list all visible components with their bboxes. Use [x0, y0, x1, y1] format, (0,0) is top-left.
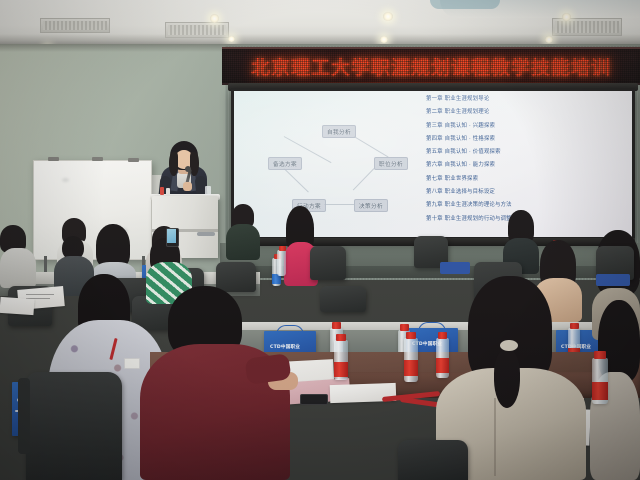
bottle-cap — [336, 334, 346, 341]
hair-tie — [500, 340, 518, 351]
microphone-head — [185, 166, 191, 172]
notebook — [0, 297, 35, 315]
podium-marker — [166, 188, 170, 195]
speaker-hand — [183, 182, 192, 191]
chair-foreground — [398, 440, 468, 480]
chapter-item: 第七章 职业世界探索 — [426, 177, 626, 182]
led-banner: 北京理工大学职涯规划课程教学技能培训 — [222, 47, 640, 85]
ceiling-spotlight — [562, 13, 571, 21]
attendee-torso — [226, 224, 260, 260]
ac-vent-left — [40, 18, 110, 33]
ac-vent-right — [552, 18, 622, 36]
ceiling-spotlight — [380, 36, 388, 43]
attendee-torso — [0, 248, 36, 288]
whiteboard-clip — [48, 157, 59, 161]
chapter-item: 第四章 自我认知 · 性格探索 — [426, 137, 626, 142]
bottle-cap — [279, 246, 286, 251]
bottle-label — [436, 358, 449, 373]
bottle-label — [334, 362, 348, 377]
chair-armrest — [18, 378, 30, 454]
chapter-item: 第三章 自我认知 · 兴趣探索 — [426, 124, 626, 129]
classroom-photo-scene: 北京理工大学职涯规划课程教学技能培训 自我分析 备选方案 职位分析 行动方案 决… — [0, 0, 640, 480]
chapter-item: 第二章 职业生涯规划理论 — [426, 110, 626, 115]
whiteboard-smudge — [62, 178, 69, 182]
bottle-label — [592, 382, 608, 400]
chair — [320, 286, 366, 312]
phone-screen — [167, 229, 176, 243]
ceiling-spotlight — [228, 36, 235, 42]
water-bottle-held — [277, 250, 286, 276]
bottle-cap — [406, 332, 416, 339]
button-placket — [494, 398, 496, 476]
chair — [216, 262, 256, 292]
chapter-item: 第九章 职业生涯决策的理论与方法 — [426, 203, 626, 208]
whiteboard-clip — [128, 158, 139, 162]
podium-cup — [205, 186, 211, 195]
chair — [310, 246, 346, 280]
bottle-cap — [400, 324, 409, 331]
bottle-cap — [570, 323, 579, 329]
name-badge — [124, 358, 140, 369]
diagram-box-position-analysis: 职位分析 — [374, 157, 408, 170]
bottle-cap — [438, 332, 447, 339]
ceiling-spotlight — [383, 12, 393, 21]
podium-marker — [160, 187, 164, 195]
ac-vent-center — [165, 22, 229, 38]
bottle-cap — [594, 351, 606, 359]
chapter-item: 第八章 职业选择与目标设定 — [426, 190, 626, 195]
smartphone — [300, 394, 328, 405]
led-banner-text: 北京理工大学职涯规划课程教学技能培训 — [222, 49, 640, 83]
chapter-item: 第五章 自我认知 · 价值观探索 — [426, 150, 626, 155]
bag-brand-text: CTD中国职业 — [270, 344, 300, 350]
diagram-box-alternatives: 备选方案 — [268, 157, 302, 170]
diagram-connector — [324, 204, 354, 205]
podium-pointer — [197, 232, 215, 236]
chair-foreground — [26, 372, 122, 480]
ponytail-tail — [494, 350, 520, 408]
whiteboard-clip — [92, 157, 103, 161]
speaker-hair-right — [190, 152, 199, 176]
chair-seat-blue — [440, 262, 470, 274]
chapter-item: 第六章 自我认知 · 能力探索 — [426, 163, 626, 168]
diagram-box-decision-analysis: 决策分析 — [354, 199, 388, 212]
bottle-cap — [332, 322, 341, 329]
chapter-item: 第一章 职业生涯规划导论 — [426, 97, 626, 102]
speaker-hair-left — [169, 152, 178, 176]
diagram-box-self-analysis: 自我分析 — [322, 125, 356, 138]
slide-chapter-list: 第一章 职业生涯规划导论 第二章 职业生涯规划理论 第三章 自我认知 · 兴趣探… — [426, 97, 626, 230]
ceiling-blue-accent — [430, 0, 500, 9]
chair-seat-blue — [596, 274, 630, 286]
whiteboard — [33, 160, 152, 260]
ceiling-spotlight — [210, 14, 219, 23]
notebook-line — [26, 294, 54, 295]
bottle-label — [404, 360, 418, 376]
ceiling-spotlight — [545, 36, 553, 43]
